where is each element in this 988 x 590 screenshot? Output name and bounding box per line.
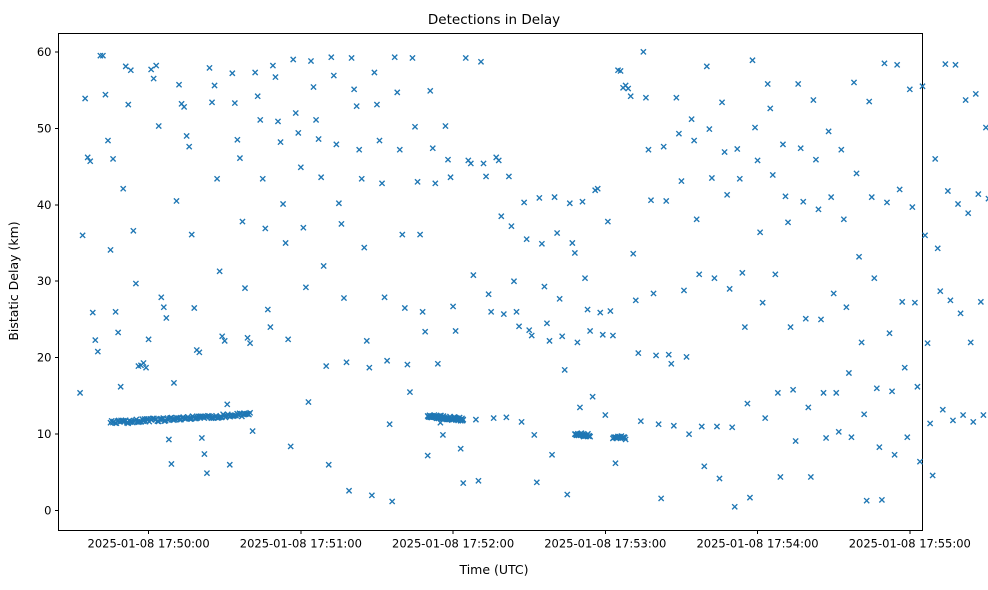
chart-title: Detections in Delay [428, 12, 560, 28]
x-tick-label: 2025-01-08 17:55:00 [849, 537, 971, 551]
x-axis-label: Time (UTC) [458, 562, 528, 577]
y-tick-label: 40 [37, 198, 52, 212]
scatter-plot: 2025-01-08 17:50:002025-01-08 17:51:0020… [0, 0, 988, 590]
y-tick-label: 30 [37, 274, 52, 288]
x-tick-label: 2025-01-08 17:51:00 [240, 537, 362, 551]
x-tick-label: 2025-01-08 17:54:00 [696, 537, 818, 551]
y-axis-label: Bistatic Delay (km) [6, 221, 21, 340]
x-tick-label: 2025-01-08 17:52:00 [392, 537, 514, 551]
y-tick-label: 60 [37, 45, 52, 59]
x-tick-label: 2025-01-08 17:50:00 [88, 537, 210, 551]
figure-background [0, 0, 988, 590]
figure-canvas: 2025-01-08 17:50:002025-01-08 17:51:0020… [0, 0, 988, 590]
y-tick-label: 10 [37, 427, 52, 441]
y-tick-label: 50 [37, 121, 52, 135]
x-tick-label: 2025-01-08 17:53:00 [544, 537, 666, 551]
y-tick-label: 0 [44, 504, 51, 518]
y-tick-label: 20 [37, 351, 52, 365]
